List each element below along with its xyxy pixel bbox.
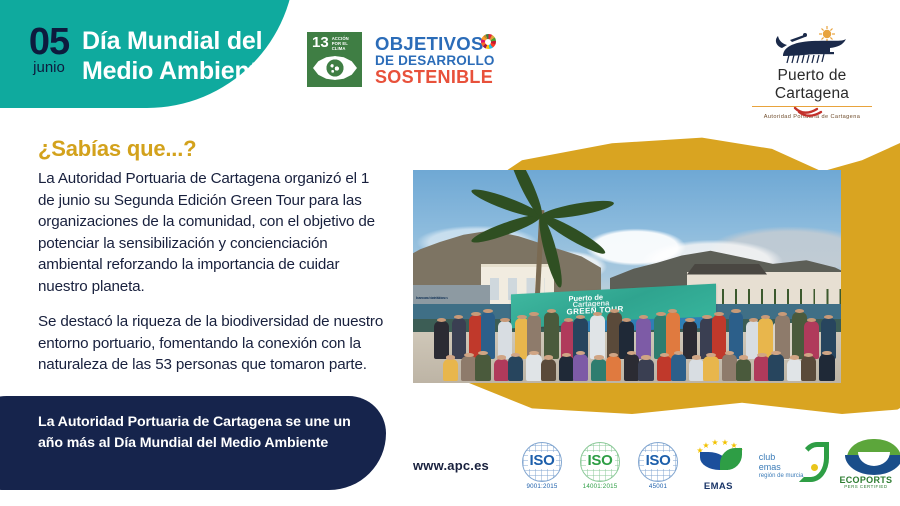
event-date: 05 junio <box>18 24 80 76</box>
body-copy: La Autoridad Portuaria de Cartagena orga… <box>38 168 388 376</box>
eye-globe-icon <box>313 56 357 80</box>
club-emas-line3: región de murcia <box>759 473 804 479</box>
body-paragraph-2: Se destacó la riqueza de la biodiversida… <box>38 311 388 376</box>
sdg-color-wheel-icon <box>481 34 496 49</box>
sdg-13-icon: 13 ACCIÓN POR EL CLIMA <box>307 32 362 87</box>
emas-logo: ★★ ★★ ★★ EMAS <box>694 438 743 492</box>
swirl-dot-icon <box>811 464 818 471</box>
blue-wave-icon <box>845 455 900 475</box>
iso-45001-word: ISO <box>636 452 680 469</box>
sdg-caption: ACCIÓN POR EL CLIMA <box>332 36 358 51</box>
sdg-logo: 13 ACCIÓN POR EL CLIMA OBJETIVOS DE DESA… <box>307 32 495 87</box>
sdg-number: 13 <box>312 36 329 49</box>
poster-canvas: 05 junio Día Mundial del Medio Ambiente … <box>0 0 900 506</box>
iso-14001-logo: ISO 14001:2015 <box>578 439 622 491</box>
lead-heading: ¿Sabías que...? <box>38 136 196 162</box>
club-emas-line2: emas <box>759 462 781 472</box>
iso-9001-word: ISO <box>520 452 564 469</box>
roman-ship-icon <box>742 26 882 66</box>
website-url[interactable]: www.apc.es <box>413 458 489 473</box>
page-title-line2: Medio Ambiente <box>82 56 271 86</box>
sdg-caption-line2: POR EL CLIMA <box>332 41 358 51</box>
sdg-text-line1: OBJETIVOS <box>375 34 495 53</box>
ecoports-logo: ECOPORTS PERS CERTIFIED <box>837 437 895 493</box>
iso-9001-code: 9001:2015 <box>520 483 564 490</box>
callout-text: La Autoridad Portuaria de Cartagena se u… <box>38 412 368 454</box>
iso-45001-logo: ISO 45001 <box>636 439 680 491</box>
iso-14001-word: ISO <box>578 452 622 469</box>
sdg-box-header: 13 ACCIÓN POR EL CLIMA <box>312 36 358 51</box>
body-paragraph-1: La Autoridad Portuaria de Cartagena orga… <box>38 168 388 297</box>
emas-label: EMAS <box>694 481 743 492</box>
iso-14001-code: 14001:2015 <box>578 483 622 490</box>
sdg-text-line3: SOSTENIBLE <box>375 68 495 87</box>
sdg-text-line2: DE DESARROLLO <box>375 53 495 68</box>
iso-45001-code: 45001 <box>636 483 680 490</box>
port-authority-logo: Puerto de Cartagena Autoridad Portuaria … <box>742 26 882 120</box>
photo-crowd <box>413 302 841 383</box>
date-day: 05 <box>18 24 80 60</box>
palm-tree-icon <box>486 174 597 302</box>
ecoports-sublabel: PERS CERTIFIED <box>837 484 895 489</box>
certification-logos: ISO 9001:2015 ISO 14001:2015 ISO 45001 ★… <box>520 434 895 496</box>
page-title-line1: Día Mundial del <box>82 26 271 56</box>
club-emas-logo: club emas región de murcia <box>757 440 823 490</box>
page-title: Día Mundial del Medio Ambiente <box>82 26 271 86</box>
iso-9001-logo: ISO 9001:2015 <box>520 439 564 491</box>
sdg-wordmark: OBJETIVOS DE DESARROLLO SOSTENIBLE <box>375 34 495 87</box>
date-month: junio <box>18 60 80 76</box>
port-logo-name: Puerto de Cartagena <box>742 67 882 103</box>
group-photo: barcos turisticos Puerto de GREEN TOUR C… <box>413 170 841 383</box>
club-emas-line1: club <box>759 452 776 462</box>
port-logo-divider <box>752 106 872 107</box>
